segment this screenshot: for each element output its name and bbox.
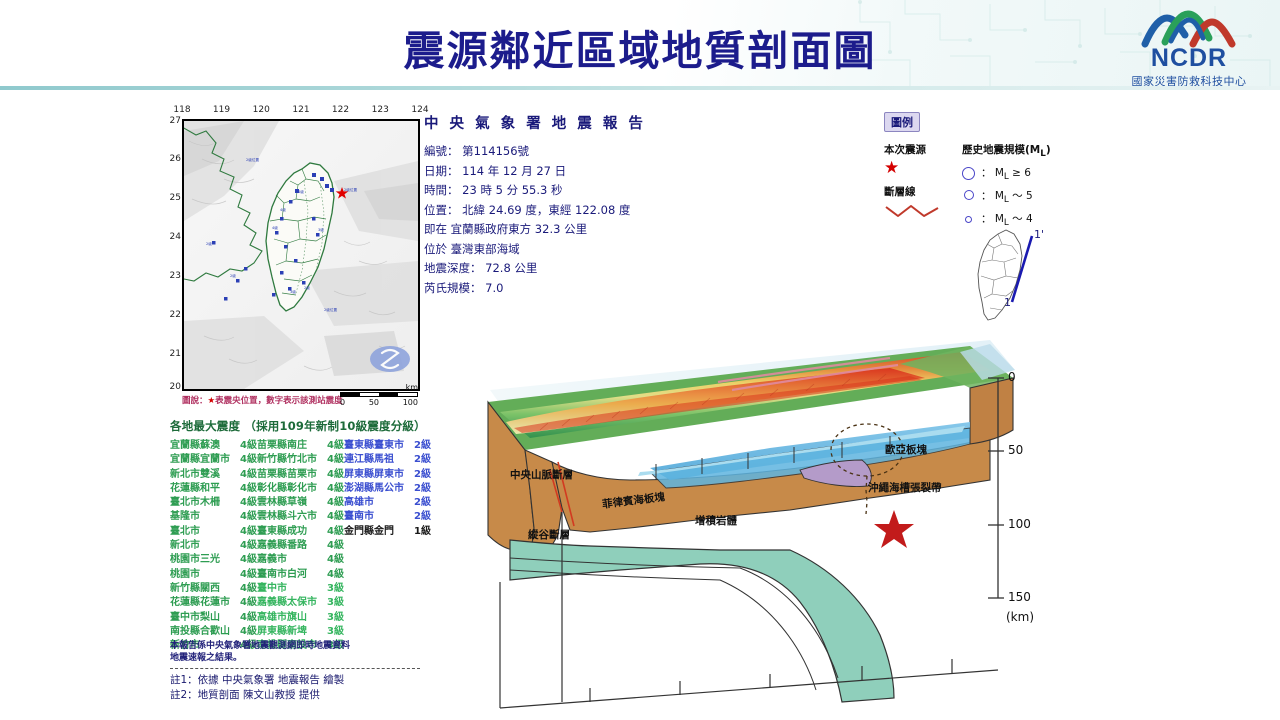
intensity-location: 雲林縣斗六市 (257, 510, 317, 524)
map-y-tick: 22 (170, 310, 181, 320)
report-line-magnitude: 芮氏規模： 7.0 (424, 279, 684, 299)
intensity-row: 嘉義縣太保市3級 (257, 596, 344, 610)
intensity-row: 彰化縣彰化市4級 (257, 482, 344, 496)
intensity-row: 臺北市4級 (170, 525, 257, 539)
legend-fault-label: 斷層線 (884, 184, 962, 199)
intensity-level: 2級 (411, 439, 431, 453)
intensity-level: 4級 (237, 510, 257, 524)
intensity-location: 金門縣金門 (344, 525, 394, 539)
intensity-row: 基隆市4級 (170, 510, 257, 524)
ncdr-logo: NCDR 國家災害防救科技中心 (1114, 8, 1264, 86)
intensity-column-1: 宜蘭縣蘇澳4級宜蘭縣宜蘭市4級新北市雙溪4級花蓮縣和平4級臺北市木柵4級基隆市4… (170, 439, 257, 653)
scalebar-bar (340, 392, 418, 397)
svg-text:3級: 3級 (318, 227, 324, 232)
intensity-row: 宜蘭縣宜蘭市4級 (170, 453, 257, 467)
legend-circle-medium-icon (964, 190, 974, 200)
map-y-tick: 27 (170, 116, 181, 126)
intensity-row: 臺南市白河4級 (257, 568, 344, 582)
legend-circle-large-icon (962, 167, 975, 180)
intensity-level: 2級 (411, 510, 431, 524)
intensity-level: 4級 (237, 553, 257, 567)
legend-magnitude-item: ： ML ≥ 6 (962, 165, 1084, 182)
legend-magnitude-item: ： ML ～ 5 (962, 188, 1084, 205)
cross-section-graphics (470, 330, 1030, 710)
intensity-column-3: 臺東縣臺東市2級連江縣馬祖2級屏東縣屏東市2級澎湖縣馬公市2級高雄市2級臺南市2… (344, 439, 431, 653)
footnote-note-2: 註2：地質剖面 陳文山教授 提供 (170, 688, 440, 703)
map-caption-text: 表震央位置，數字表示該測站震度 (215, 396, 343, 406)
intensity-level: 2級 (411, 496, 431, 510)
scalebar-tick: 100 (403, 398, 418, 407)
map-caption-prefix: 圖說： (182, 396, 208, 406)
logo-wordmark: NCDR (1114, 46, 1264, 71)
intensity-location: 臺中市 (257, 582, 287, 596)
intensity-location: 臺中市梨山 (170, 611, 220, 625)
footnotes-block: 本報告係中央氣象署地震觀測網即時地震資料 地震速報之結果。 註1：依據 中央氣象… (170, 640, 440, 703)
report-line-depth: 地震深度： 72.8 公里 (424, 259, 684, 279)
intensity-location: 苗栗縣苗栗市 (257, 468, 317, 482)
intensity-level: 4級 (324, 439, 344, 453)
intensity-level: 4級 (324, 539, 344, 553)
footnote-divider (170, 668, 420, 669)
report-line-location: 位置： 北緯 24.69 度，東經 122.08 度 (424, 201, 684, 221)
intensity-level: 2級 (411, 453, 431, 467)
intensity-location: 屏東縣屏東市 (344, 468, 404, 482)
map-canvas[interactable]: 2級位置 2級位置 4級 4級 4級 3級 3級 2級 2級 2級 2級位置 (182, 119, 420, 391)
intensity-row: 澎湖縣馬公市2級 (344, 482, 431, 496)
report-line-time: 時間： 23 時 5 分 55.3 秒 (424, 181, 684, 201)
legend-body: 本次震源 ★ 斷層線 歷史地震規模(ML) ： ML ≥ 6 (884, 142, 1084, 228)
scalebar-tick: 0 (340, 398, 345, 407)
legend-fault-line-icon (884, 203, 962, 224)
legend-magnitude-text: ： ML ≥ 6 (981, 165, 1031, 182)
map-x-tick: 123 (372, 105, 389, 115)
intensity-row: 雲林縣草嶺4級 (257, 496, 344, 510)
svg-text:2級位置: 2級位置 (344, 187, 357, 192)
intensity-row: 嘉義市4級 (257, 553, 344, 567)
intensity-row: 花蓮縣和平4級 (170, 482, 257, 496)
scalebar-ticks: 0 50 100 (340, 398, 418, 407)
label-okinawa-trough-rift: 沖繩海槽張裂帶 (868, 480, 942, 495)
intensity-row: 苗栗縣南庄4級 (257, 439, 344, 453)
intensity-level: 4級 (324, 453, 344, 467)
map-latitude-axis: 27 26 25 24 23 22 21 20 (168, 119, 182, 391)
legend-badge: 圖例 (884, 112, 920, 132)
svg-text:4級: 4級 (272, 225, 278, 230)
legend-magnitude-title-end: ) (1046, 144, 1051, 156)
intensity-level: 4級 (237, 525, 257, 539)
cross-section-locator-inset: 1 1' (952, 222, 1062, 330)
map-x-tick: 118 (173, 105, 190, 115)
intensity-row: 臺中市3級 (257, 582, 344, 596)
intensity-row: 宜蘭縣蘇澳4級 (170, 439, 257, 453)
report-line-distance: 即在 宜蘭縣政府東方 32.3 公里 (424, 220, 684, 240)
intensity-location: 宜蘭縣蘇澳 (170, 439, 220, 453)
intensity-level: 4級 (324, 482, 344, 496)
map-x-tick: 121 (292, 105, 309, 115)
intensity-location: 花蓮縣和平 (170, 482, 220, 496)
intensity-location: 雲林縣草嶺 (257, 496, 307, 510)
intensity-location: 澎湖縣馬公市 (344, 482, 404, 496)
intensity-location: 嘉義縣番路 (257, 539, 307, 553)
legend-magnitude-column: 歷史地震規模(ML) ： ML ≥ 6 ： ML ～ 5 ： ML ～ (962, 142, 1084, 228)
map-legend: 圖例 本次震源 ★ 斷層線 歷史地震規模(ML) ： ML ≥ 6 (884, 112, 1084, 228)
footnote-note-1: 註1：依據 中央氣象署 地震報告 繪製 (170, 673, 440, 688)
epicenter-map-panel: 118 119 120 121 122 123 124 27 26 25 24 … (168, 105, 420, 406)
legend-magnitude-title: 歷史地震規模(ML) (962, 142, 1084, 159)
intensity-location: 桃園市 (170, 568, 200, 582)
inset-label-start: 1 (1004, 296, 1011, 309)
intensity-level: 2級 (411, 482, 431, 496)
geologic-cross-section-diagram: 中央山脈斷層 縱谷斷層 菲律賓海板塊 增積岩體 歐亞板塊 沖繩海槽張裂帶 0 5… (470, 330, 1030, 710)
map-y-tick: 24 (170, 232, 181, 242)
map-y-tick: 20 (170, 382, 181, 392)
intensity-location: 基隆市 (170, 510, 200, 524)
page-title: 震源鄰近區域地質剖面圖 (0, 17, 1280, 77)
report-line-number: 編號： 第114156號 (424, 142, 684, 162)
map-y-tick: 25 (170, 193, 181, 203)
intensity-level: 4級 (237, 539, 257, 553)
intensity-level: 1級 (411, 525, 431, 539)
intensity-row: 新竹縣竹北市4級 (257, 453, 344, 467)
intensity-location: 高雄市 (344, 496, 374, 510)
svg-text:3級: 3級 (290, 289, 296, 294)
label-central-range-fault: 中央山脈斷層 (510, 467, 573, 482)
report-line-region: 位於 臺灣東部海域 (424, 240, 684, 260)
intensity-location: 苗栗縣南庄 (257, 439, 307, 453)
intensity-location: 嘉義市 (257, 553, 287, 567)
legend-epicenter-label: 本次震源 (884, 142, 962, 157)
max-intensity-table: 各地最大震度 （採用109年新制10級震度分級） 宜蘭縣蘇澳4級宜蘭縣宜蘭市4級… (170, 418, 432, 653)
intensity-location: 臺北市木柵 (170, 496, 220, 510)
intensity-location: 新竹縣竹北市 (257, 453, 317, 467)
report-line-date: 日期： 114 年 12 月 27 日 (424, 162, 684, 182)
intensity-level: 4級 (237, 568, 257, 582)
intensity-location: 臺南市白河 (257, 568, 307, 582)
intensity-level: 4級 (324, 496, 344, 510)
intensity-row: 臺東縣成功4級 (257, 525, 344, 539)
intensity-row: 臺南市2級 (344, 510, 431, 524)
intensity-level: 3級 (324, 596, 344, 610)
intensity-level: 4級 (237, 611, 257, 625)
intensity-location: 南投縣合歡山 (170, 625, 230, 639)
cwa-earthquake-report: 中 央 氣 象 署 地 震 報 告 編號： 第114156號 日期： 114 年… (424, 112, 684, 298)
intensity-row: 苗栗縣苗栗市4級 (257, 468, 344, 482)
map-x-tick: 122 (332, 105, 349, 115)
legend-epicenter-star-icon: ★ (884, 159, 962, 177)
map-caption-star: ★ (208, 396, 216, 406)
map-graphics: 2級位置 2級位置 4級 4級 4級 3級 3級 2級 2級 2級 2級位置 (184, 121, 418, 389)
inset-label-end: 1' (1034, 228, 1044, 241)
svg-text:2級位置: 2級位置 (324, 307, 337, 312)
intensity-location: 嘉義縣太保市 (257, 596, 317, 610)
intensity-table-title: 各地最大震度 （採用109年新制10級震度分級） (170, 418, 432, 434)
intensity-level: 4級 (324, 468, 344, 482)
intensity-row: 屏東縣屏東市2級 (344, 468, 431, 482)
map-y-tick: 23 (170, 271, 181, 281)
intensity-row: 金門縣金門1級 (344, 525, 431, 539)
header-divider (0, 86, 1280, 90)
intensity-column-2: 苗栗縣南庄4級新竹縣竹北市4級苗栗縣苗栗市4級彰化縣彰化市4級雲林縣草嶺4級雲林… (257, 439, 344, 653)
depth-tick-0: 0 (1008, 370, 1016, 384)
intensity-location: 新北市雙溪 (170, 468, 220, 482)
intensity-location: 屏東縣新埤 (257, 625, 307, 639)
hypocenter-star-icon (874, 510, 914, 548)
svg-text:2級: 2級 (230, 273, 236, 278)
intensity-location: 連江縣馬祖 (344, 453, 394, 467)
intensity-location: 臺東縣成功 (257, 525, 307, 539)
map-x-tick: 119 (213, 105, 230, 115)
report-title: 中 央 氣 象 署 地 震 報 告 (424, 112, 684, 133)
intensity-level: 4級 (237, 582, 257, 596)
intensity-level: 4級 (237, 596, 257, 610)
intensity-location: 臺南市 (344, 510, 374, 524)
intensity-level: 4級 (237, 439, 257, 453)
intensity-row: 臺中市梨山4級 (170, 611, 257, 625)
legend-magnitude-title-main: 歷史地震規模(M (962, 144, 1040, 156)
intensity-level: 4級 (324, 510, 344, 524)
intensity-location: 新北市 (170, 539, 200, 553)
footnote-head-line2: 地震速報之結果。 (170, 652, 440, 664)
svg-text:4級: 4級 (280, 207, 286, 212)
intensity-level: 4級 (237, 453, 257, 467)
label-accretionary-prism: 增積岩體 (695, 513, 737, 528)
intensity-row: 臺東縣臺東市2級 (344, 439, 431, 453)
page-header: 震源鄰近區域地質剖面圖 NCDR 國家災害防救科技中心 (0, 0, 1280, 88)
footnote-head-line1: 本報告係中央氣象署地震觀測網即時地震資料 (170, 640, 440, 652)
intensity-row: 高雄市旗山3級 (257, 611, 344, 625)
intensity-columns: 宜蘭縣蘇澳4級宜蘭縣宜蘭市4級新北市雙溪4級花蓮縣和平4級臺北市木柵4級基隆市4… (170, 439, 432, 653)
scalebar-tick: 50 (369, 398, 379, 407)
intensity-location: 桃園市三光 (170, 553, 220, 567)
legend-magnitude-text: ： ML ～ 5 (981, 188, 1033, 205)
intensity-location: 宜蘭縣宜蘭市 (170, 453, 230, 467)
intensity-row: 雲林縣斗六市4級 (257, 510, 344, 524)
intensity-row: 連江縣馬祖2級 (344, 453, 431, 467)
intensity-level: 4級 (237, 625, 257, 639)
intensity-level: 3級 (324, 625, 344, 639)
legend-symbols-column: 本次震源 ★ 斷層線 (884, 142, 962, 228)
intensity-level: 3級 (324, 611, 344, 625)
intensity-row: 屏東縣新埤3級 (257, 625, 344, 639)
ncdr-mountain-icon (1141, 8, 1237, 48)
intensity-row: 桃園市4級 (170, 568, 257, 582)
intensity-level: 2級 (411, 468, 431, 482)
intensity-level: 4級 (324, 568, 344, 582)
intensity-row: 花蓮縣花蓮市4級 (170, 596, 257, 610)
depth-tick-100: 100 (1008, 517, 1031, 531)
map-x-tick: 120 (253, 105, 270, 115)
intensity-row: 南投縣合歡山4級 (170, 625, 257, 639)
intensity-row: 桃園市三光4級 (170, 553, 257, 567)
intensity-location: 彰化縣彰化市 (257, 482, 317, 496)
intensity-row: 新北市雙溪4級 (170, 468, 257, 482)
intensity-row: 嘉義縣番路4級 (257, 539, 344, 553)
label-eurasian-plate: 歐亞板塊 (885, 442, 927, 457)
intensity-location: 臺北市 (170, 525, 200, 539)
intensity-location: 高雄市旗山 (257, 611, 307, 625)
map-longitude-axis: 118 119 120 121 122 123 124 (182, 105, 420, 119)
scalebar-unit: km (340, 383, 418, 392)
intensity-location: 新竹縣關西 (170, 582, 220, 596)
depth-tick-50: 50 (1008, 443, 1023, 457)
intensity-level: 4級 (324, 553, 344, 567)
intensity-row: 高雄市2級 (344, 496, 431, 510)
label-longitudinal-valley-fault: 縱谷斷層 (528, 527, 570, 542)
svg-text:2級: 2級 (206, 241, 212, 246)
intensity-location: 臺東縣臺東市 (344, 439, 404, 453)
map-y-tick: 26 (170, 154, 181, 164)
intensity-level: 3級 (324, 582, 344, 596)
intensity-level: 4級 (237, 496, 257, 510)
intensity-row: 新竹縣關西4級 (170, 582, 257, 596)
intensity-level: 4級 (324, 525, 344, 539)
intensity-row: 臺北市木柵4級 (170, 496, 257, 510)
svg-text:4級: 4級 (298, 189, 304, 194)
intensity-level: 4級 (237, 468, 257, 482)
map-y-tick: 21 (170, 349, 181, 359)
depth-tick-150: 150 (1008, 590, 1031, 604)
svg-text:2級: 2級 (304, 285, 310, 290)
intensity-location: 花蓮縣花蓮市 (170, 596, 230, 610)
depth-axis-unit: (km) (1006, 610, 1034, 624)
map-scalebar: km 0 50 100 (340, 383, 418, 407)
intensity-level: 4級 (237, 482, 257, 496)
slide-root: 震源鄰近區域地質剖面圖 NCDR 國家災害防救科技中心 118 119 120 … (0, 0, 1280, 720)
svg-text:2級位置: 2級位置 (246, 157, 259, 162)
intensity-row: 新北市4級 (170, 539, 257, 553)
